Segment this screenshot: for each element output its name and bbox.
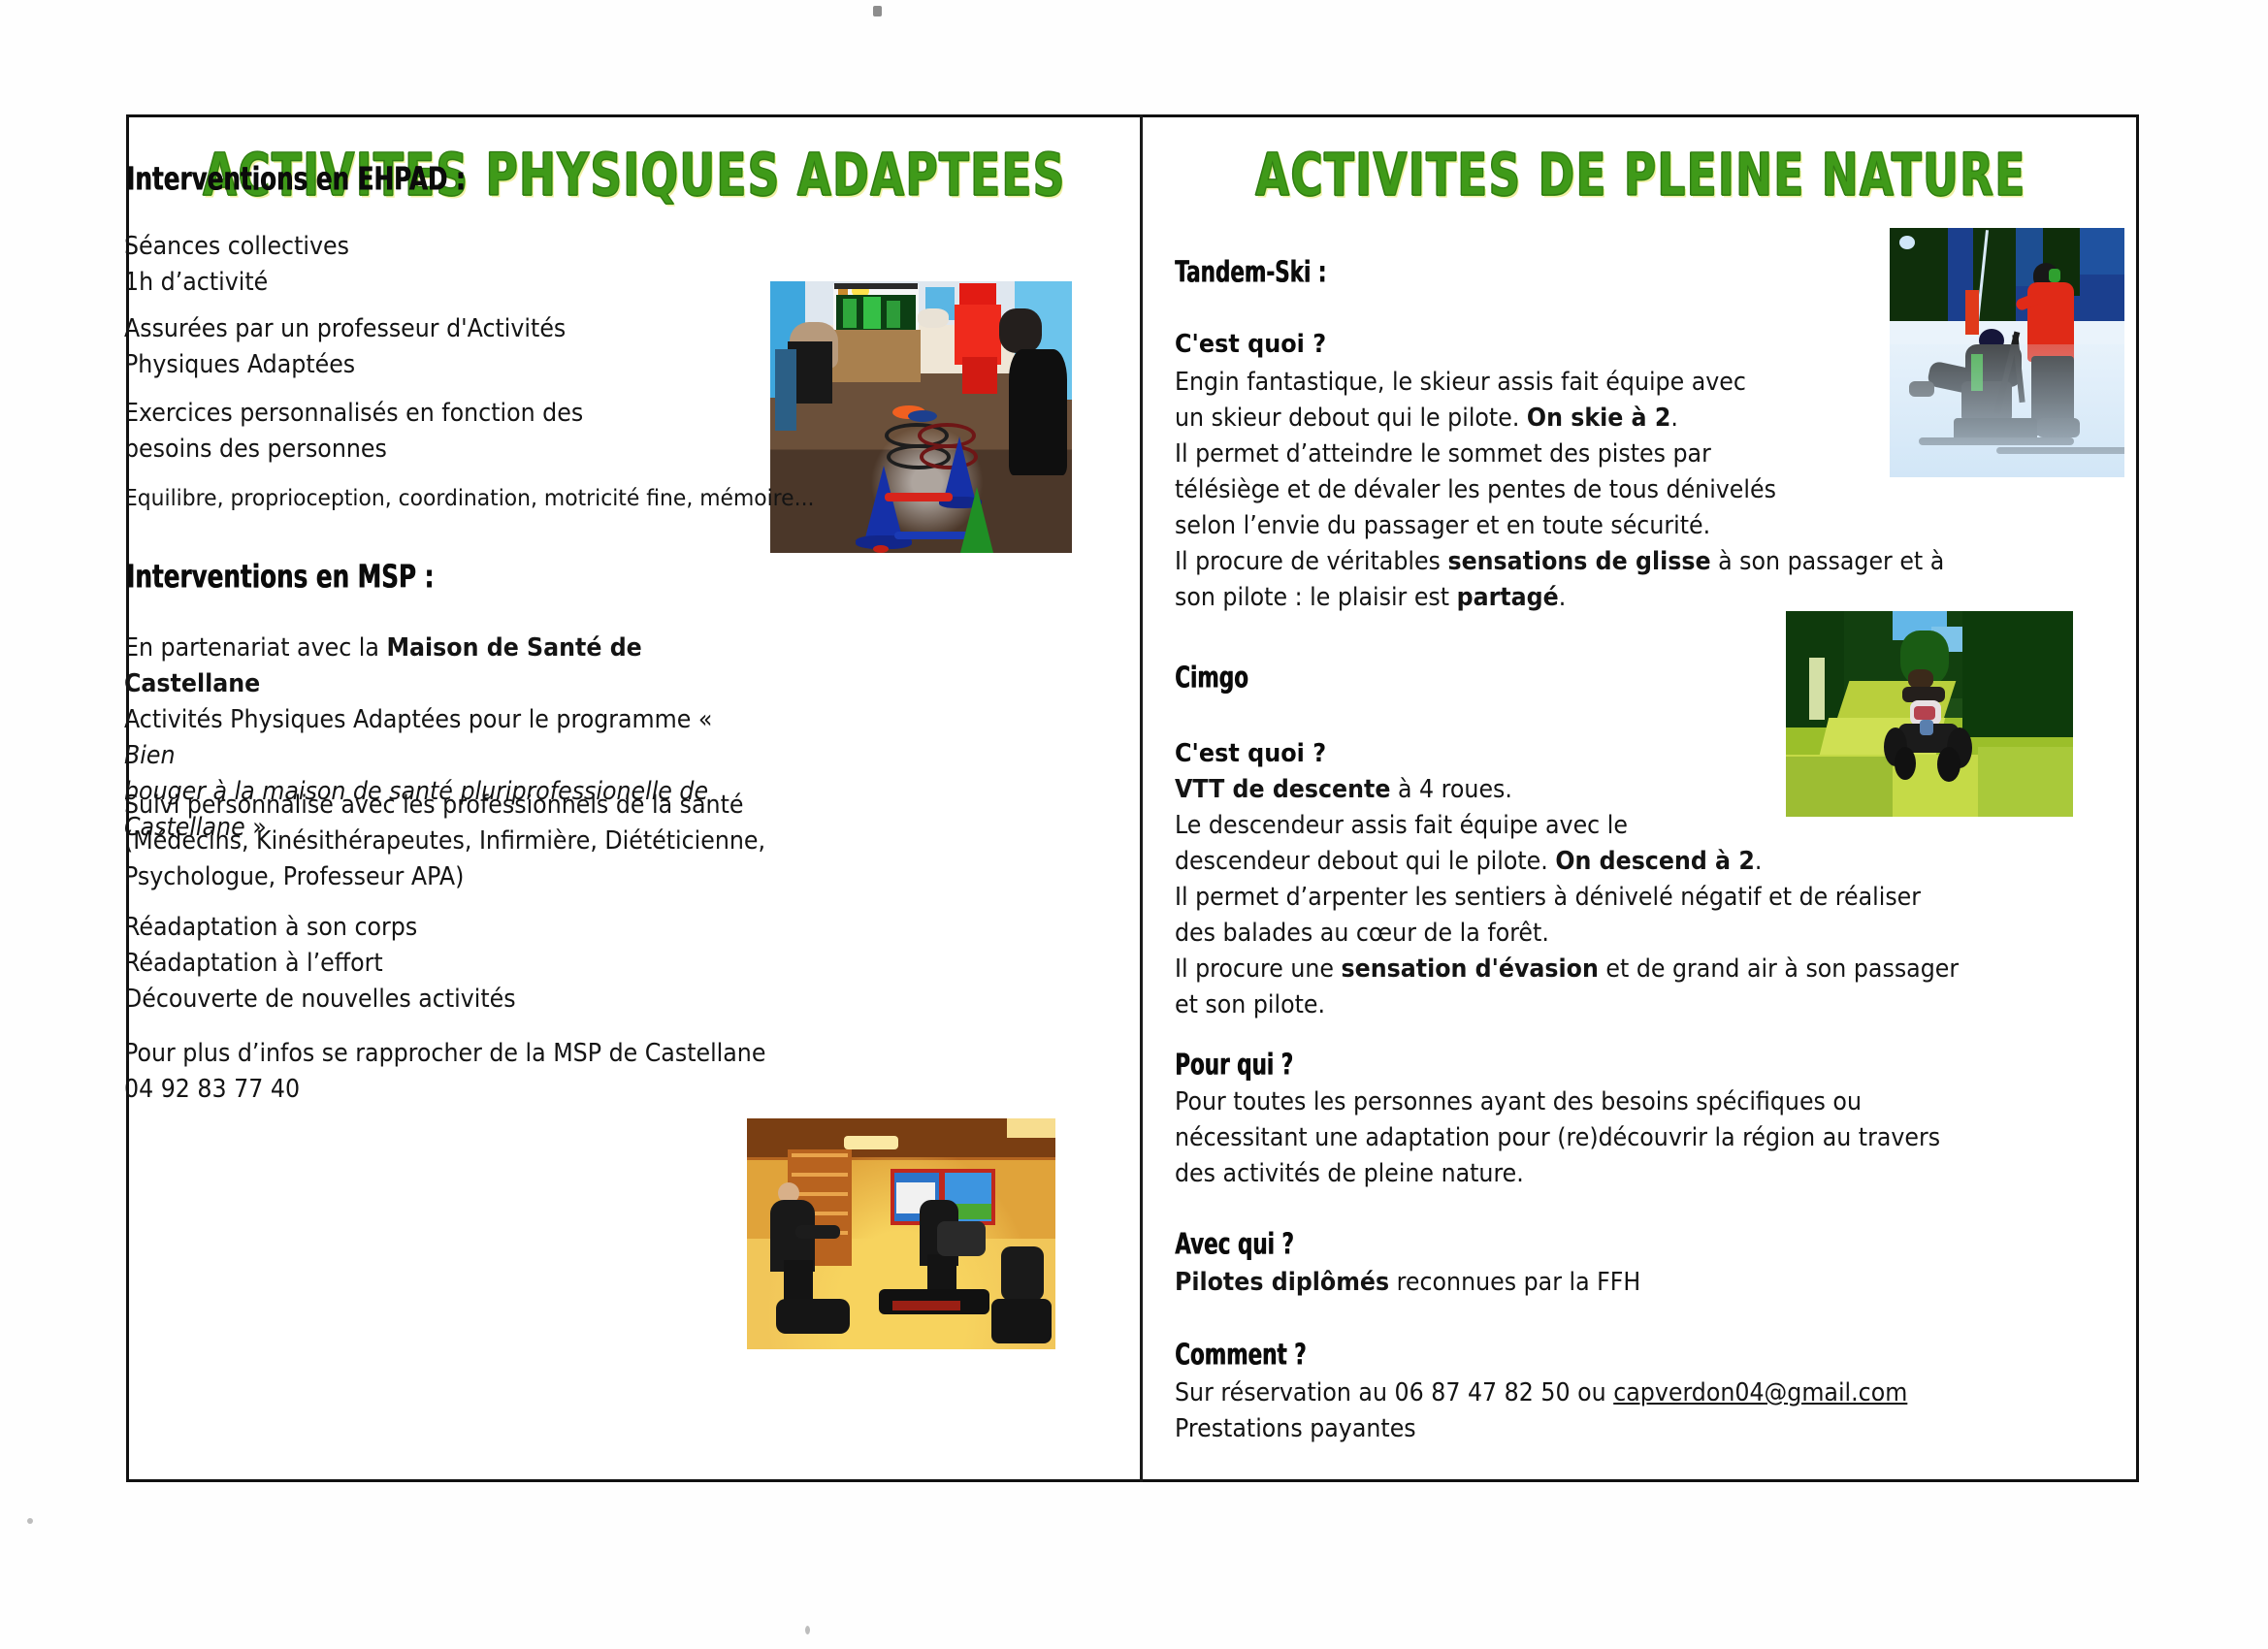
- text-line: Psychologue, Professeur APA): [124, 859, 900, 895]
- text-line: Le descendeur assis fait équipe avec le: [1175, 808, 2077, 844]
- text-run: descendeur debout qui le pilote.: [1175, 847, 1555, 876]
- text-line: nécessitant une adaptation pour (re)déco…: [1175, 1120, 2077, 1156]
- text-run-bold: sensations de glisse: [1447, 547, 1710, 576]
- text-line: VTT de descente à 4 roues.: [1175, 772, 2077, 808]
- text-run: Activités Physiques Adaptées pour le pro…: [124, 705, 712, 734]
- cimgo-description: VTT de descente à 4 roues. Le descendeur…: [1175, 772, 2077, 1023]
- scan-speck: [873, 6, 882, 16]
- text-line: Séances collectives: [124, 229, 701, 265]
- heading-avec-qui: Avec qui ?: [1175, 1227, 1294, 1261]
- phone-number: 06 87 47 82 50: [1395, 1378, 1571, 1407]
- text-run: à 4 roues.: [1390, 775, 1511, 804]
- text-run: un skieur debout qui le pilote.: [1175, 404, 1527, 433]
- text-run: reconnues par la FFH: [1389, 1268, 1640, 1297]
- text-run-bold: On descend à 2: [1555, 847, 1755, 876]
- text-run: Sur réservation au: [1175, 1378, 1395, 1407]
- text-line: Pour toutes les personnes ayant des beso…: [1175, 1084, 2077, 1120]
- text-run: En partenariat avec la: [124, 633, 386, 663]
- text-line: Il procure de véritables sensations de g…: [1175, 544, 2058, 580]
- gym-equipment-photo: [747, 1118, 1055, 1349]
- text-line: Il permet d’atteindre le sommet des pist…: [1175, 436, 2058, 472]
- text-run-italic: Bien: [124, 741, 175, 770]
- text-line: Réadaptation à l’effort: [124, 946, 756, 982]
- avec-qui-description: Pilotes diplômés reconnues par la FFH: [1175, 1265, 1987, 1301]
- heading-pour-qui: Pour qui ?: [1175, 1048, 1293, 1082]
- text-line: Assurées par un professeur d'Activités: [124, 311, 701, 347]
- text-run: son pilote : le plaisir est: [1175, 583, 1457, 612]
- ehpad-seances-paragraph: Séances collectives 1h d’activité: [124, 229, 701, 301]
- heading-interventions-msp: Interventions en MSP :: [126, 558, 434, 596]
- heading-cimgo: Cimgo: [1175, 661, 1248, 695]
- text-line: Découverte de nouvelles activités: [124, 982, 756, 1018]
- text-line: descendeur debout qui le pilote. On desc…: [1175, 844, 2077, 880]
- text-line: des activités de pleine nature.: [1175, 1156, 2077, 1192]
- text-line: Activités Physiques Adaptées pour le pro…: [124, 702, 756, 774]
- text-line: des balades au cœur de la forêt.: [1175, 916, 2077, 952]
- text-run: .: [1559, 583, 1567, 612]
- text-run-bold: sensation d'évasion: [1342, 954, 1599, 984]
- ehpad-professeur-paragraph: Assurées par un professeur d'Activités P…: [124, 311, 701, 383]
- scan-speck: [27, 1518, 33, 1524]
- text-line: télésiège et de dévaler les pentes de to…: [1175, 472, 2058, 508]
- text-run-bold: On skie à 2: [1527, 404, 1670, 433]
- text-line: un skieur debout qui le pilote. On skie …: [1175, 401, 2058, 436]
- right-banner-title: ACTIVITES DE PLEINE NATURE: [1152, 140, 2128, 209]
- text-line: (Médecins, Kinésithérapeutes, Infirmière…: [124, 824, 900, 859]
- text-line: 1h d’activité: [124, 265, 701, 301]
- text-line: Il procure une sensation d'évasion et de…: [1175, 952, 2077, 987]
- text-line: Engin fantastique, le skieur assis fait …: [1175, 365, 2058, 401]
- heading-tandem-ski: Tandem-Ski :: [1175, 255, 1326, 289]
- right-banner-wrap: ACTIVITES DE PLEINE NATURE: [1143, 114, 2139, 211]
- text-run: à son passager et à: [1711, 547, 1945, 576]
- msp-contact-paragraph: Pour plus d’infos se rapprocher de la MS…: [124, 1036, 918, 1108]
- text-run-bold: partagé: [1457, 583, 1559, 612]
- msp-readaptation-paragraph: Réadaptation à son corps Réadaptation à …: [124, 910, 756, 1018]
- text-line: En partenariat avec la Maison de Santé d…: [124, 630, 756, 702]
- text-line: besoins des personnes: [124, 432, 720, 468]
- scan-speck: [805, 1626, 810, 1634]
- reservation-line: Sur réservation au 06 87 47 82 50 ou cap…: [1175, 1375, 2077, 1411]
- left-column: ACTIVITES PHYSIQUES ADAPTEES Interventio…: [129, 114, 1140, 1482]
- text-line: Suivi personnalisé avec les professionne…: [124, 788, 900, 824]
- text-run: et de grand air à son passager: [1599, 954, 1959, 984]
- text-line: Physiques Adaptées: [124, 347, 701, 383]
- text-line: Exercices personnalisés en fonction des: [124, 396, 720, 432]
- right-column: ACTIVITES DE PLEINE NATURE: [1143, 114, 2139, 1482]
- tandem-question-heading: C'est quoi ?: [1175, 330, 1326, 359]
- comment-description: Sur réservation au 06 87 47 82 50 ou cap…: [1175, 1375, 2077, 1447]
- msp-followup-paragraph: Suivi personnalisé avec les professionne…: [124, 788, 900, 895]
- text-run-bold: VTT de descente: [1175, 775, 1390, 804]
- contact-line: Pour plus d’infos se rapprocher de la MS…: [124, 1036, 918, 1072]
- text-run: ou: [1571, 1378, 1614, 1407]
- text-run: .: [1670, 404, 1678, 433]
- text-line: Réadaptation à son corps: [124, 910, 756, 946]
- text-run: Il procure de véritables: [1175, 547, 1447, 576]
- text-line: selon l’envie du passager et en toute sé…: [1175, 508, 2058, 544]
- ehpad-exercices-paragraph: Exercices personnalisés en fonction des …: [124, 396, 720, 468]
- text-line: et son pilote.: [1175, 987, 2077, 1023]
- cimgo-question-heading: C'est quoi ?: [1175, 739, 1326, 768]
- scanned-page: ACTIVITES PHYSIQUES ADAPTEES Interventio…: [0, 0, 2268, 1649]
- ehpad-skills-note: Equilibre, proprioception, coordination,…: [124, 481, 936, 514]
- text-run: .: [1755, 847, 1763, 876]
- contact-phone: 04 92 83 77 40: [124, 1072, 918, 1108]
- text-line: Il permet d’arpenter les sentiers à déni…: [1175, 880, 2077, 916]
- text-run: Il procure une: [1175, 954, 1342, 984]
- text-run-bold: Pilotes diplômés: [1175, 1268, 1389, 1297]
- tandem-description: Engin fantastique, le skieur assis fait …: [1175, 365, 2058, 616]
- payment-note: Prestations payantes: [1175, 1411, 2077, 1447]
- heading-interventions-ehpad: Interventions en EHPAD :: [126, 160, 466, 198]
- text-line: Pilotes diplômés reconnues par la FFH: [1175, 1265, 1987, 1301]
- email-link[interactable]: capverdon04@gmail.com: [1613, 1378, 1907, 1407]
- pour-qui-description: Pour toutes les personnes ayant des beso…: [1175, 1084, 2077, 1192]
- heading-comment: Comment ?: [1175, 1338, 1306, 1372]
